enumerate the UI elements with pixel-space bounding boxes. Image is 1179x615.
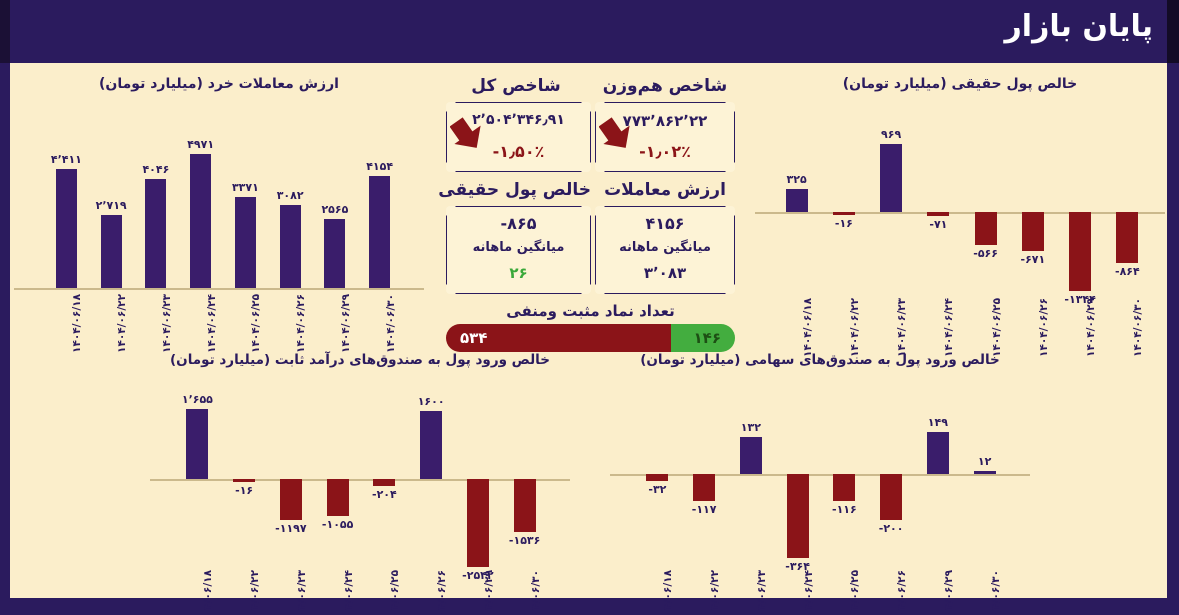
bar-value-label: ۴۹۷۱ — [187, 138, 214, 151]
chart-equity-funds-inflow: خالص ورود پول به صندوق‌های سهامی (میلیار… — [610, 352, 1030, 602]
bar — [186, 409, 208, 479]
bar-value-label: ۱۳۲ — [741, 421, 761, 434]
header-edge-right — [1167, 0, 1179, 63]
bar-column: ۱۴۹۱۴۰۴/۰۶/۲۹ — [915, 374, 962, 589]
bar-value-label: ۱۶۰۰ — [418, 395, 445, 408]
x-axis-date-label: ۱۴۰۴/۰۶/۲۴ — [343, 570, 355, 615]
bar-column: ۳۲۵۱۴۰۴/۰۶/۱۸ — [773, 100, 820, 330]
bar — [693, 474, 715, 501]
bar-column: ۴۰۴۶۱۴۰۴/۰۶/۲۳ — [134, 100, 179, 330]
bar — [324, 219, 345, 288]
bar-value-label: ۱۴۹ — [928, 416, 948, 429]
bar — [235, 197, 256, 288]
x-axis-date-label: ۱۴۰۴/۰۶/۲۵ — [849, 570, 861, 615]
bar — [646, 474, 668, 481]
real-money-avg-value: ۲۶ — [446, 264, 591, 282]
x-axis-date-label: ۱۴۰۴/۰۶/۱۸ — [202, 570, 214, 615]
bar-column: ۱۳۲۱۴۰۴/۰۶/۲۳ — [728, 374, 775, 589]
bar — [373, 479, 395, 486]
bar-value-label: -۵۶۶ — [973, 247, 998, 260]
bar-value-label: ۲۵۶۵ — [321, 203, 348, 216]
arrow-down-icon — [450, 110, 492, 152]
trade-value-box: ۴۱۵۶ میانگین ماهانه ۳٬۰۸۳ — [595, 206, 735, 294]
symbols-negative-count: ۵۳۴ — [446, 324, 671, 352]
bar-value-label: ۳۳۷۱ — [232, 181, 259, 194]
x-axis-date-label: ۱۴۰۴/۰۶/۲۳ — [756, 570, 768, 615]
chart-fixed-income-funds-inflow: خالص ورود پول به صندوق‌های درآمد ثابت (م… — [150, 352, 570, 602]
x-axis-date-label: ۱۴۰۴/۰۶/۲۲ — [849, 298, 861, 357]
bar-column: ۱۲۱۴۰۴/۰۶/۳۰ — [961, 374, 1008, 589]
bar-value-label: ۴۱۵۴ — [366, 160, 393, 173]
x-axis-date-label: ۱۴۰۴/۰۶/۲۳ — [896, 298, 908, 357]
bar — [927, 432, 949, 474]
bar-value-label: -۱۶ — [835, 217, 853, 230]
bar — [880, 144, 902, 212]
x-axis-date-label: ۱۴۰۴/۰۶/۳۰ — [990, 570, 1002, 615]
weighted-index-title: شاخص هم‌وزن — [595, 76, 735, 96]
chart-net-real-money: خالص پول حقیقی (میلیارد تومان) ۳۲۵۱۴۰۴/۰… — [755, 76, 1165, 346]
x-axis-date-label: ۱۴۰۴/۰۶/۲۶ — [896, 570, 908, 615]
bar-value-label: ۴٬۴۱۱ — [51, 153, 82, 166]
chart-title: ارزش معاملات خرد (میلیارد تومان) — [14, 76, 424, 92]
header-band: پایان بازار — [0, 0, 1179, 63]
x-axis-date-label: ۱۴۰۴/۰۶/۱۸ — [71, 294, 83, 353]
real-money-value: -۸۶۵ — [446, 214, 591, 233]
x-axis-date-label: ۱۴۰۴/۰۶/۳۰ — [385, 294, 397, 353]
bar — [145, 179, 166, 288]
bar — [233, 479, 255, 482]
bar-value-label: -۳۲ — [648, 483, 666, 496]
x-axis-date-label: ۱۴۰۴/۰۶/۲۶ — [1038, 298, 1050, 357]
trade-value-title: ارزش معاملات — [595, 180, 735, 200]
market-close-dashboard: پایان بازار ارزش معاملات خرد (میلیارد تو… — [0, 0, 1179, 615]
bar — [190, 154, 211, 288]
bar-value-label: -۸۶۴ — [1115, 265, 1140, 278]
bar — [467, 479, 489, 567]
bar — [56, 169, 77, 288]
x-axis-date-label: ۱۴۰۴/۰۶/۲۹ — [1085, 298, 1097, 357]
bar-column: ۲٬۷۱۹۱۴۰۴/۰۶/۲۲ — [89, 100, 134, 330]
bar-column: ۹۶۹۱۴۰۴/۰۶/۲۳ — [868, 100, 915, 330]
real-money-avg-label: میانگین ماهانه — [446, 240, 591, 255]
x-axis-date-label: ۱۴۰۴/۰۶/۲۵ — [389, 570, 401, 615]
bar — [1069, 212, 1091, 291]
symbols-title: تعداد نماد مثبت ومنفی — [438, 302, 743, 320]
bar-value-label: ۱۲ — [978, 455, 991, 468]
real-money-title: خالص پول حقیقی — [446, 180, 591, 200]
bar — [369, 176, 390, 288]
plot-area: -۳۲۱۴۰۴/۰۶/۱۸-۱۱۷۱۴۰۴/۰۶/۲۲۱۳۲۱۴۰۴/۰۶/۲۳… — [610, 374, 1030, 589]
x-axis-date-label: ۱۴۰۴/۰۶/۲۳ — [161, 294, 173, 353]
bar — [514, 479, 536, 532]
bar-column: -۱۱۷۱۴۰۴/۰۶/۲۲ — [681, 374, 728, 589]
bar-value-label: -۱۱۹۷ — [275, 522, 306, 535]
x-axis-date-label: ۱۴۰۴/۰۶/۳۰ — [530, 570, 542, 615]
bar-column: -۱۶۱۴۰۴/۰۶/۲۲ — [221, 374, 268, 589]
bar-value-label: -۶۷۱ — [1021, 253, 1046, 266]
bar-value-label: ۹۶۹ — [881, 128, 901, 141]
trade-value-avg-value: ۳٬۰۸۳ — [595, 264, 735, 282]
plot-area: ۴٬۴۱۱۱۴۰۴/۰۶/۱۸۲٬۷۱۹۱۴۰۴/۰۶/۲۲۴۰۴۶۱۴۰۴/۰… — [14, 100, 424, 330]
bar — [327, 479, 349, 516]
page-title: پایان بازار — [1005, 9, 1153, 44]
bar — [787, 474, 809, 558]
symbols-progress-bar: ۵۳۴ ۱۴۶ — [446, 324, 735, 352]
bar-column: ۳۳۷۱۱۴۰۴/۰۶/۲۵ — [223, 100, 268, 330]
bar-column: -۶۷۱۱۴۰۴/۰۶/۲۶ — [1009, 100, 1056, 330]
bar-column: -۱۱۹۷۱۴۰۴/۰۶/۲۳ — [268, 374, 315, 589]
bar-value-label: -۱۵۳۶ — [509, 534, 540, 547]
bar — [786, 189, 808, 212]
trade-value-value: ۴۱۵۶ — [595, 214, 735, 233]
bar-column: -۱۵۳۶۱۴۰۴/۰۶/۳۰ — [501, 374, 548, 589]
bar — [833, 212, 855, 215]
x-axis-date-label: ۱۴۰۴/۰۶/۲۴ — [206, 294, 218, 353]
x-axis-date-label: ۱۴۰۴/۰۶/۲۴ — [943, 298, 955, 357]
rail-right — [1167, 63, 1179, 615]
bar-column: -۲۰۰۱۴۰۴/۰۶/۲۶ — [868, 374, 915, 589]
bar-column: ۳۰۸۲۱۴۰۴/۰۶/۲۶ — [268, 100, 313, 330]
bar — [833, 474, 855, 501]
bar-value-label: ۲٬۷۱۹ — [96, 199, 127, 212]
bar-column: ۱٬۶۵۵۱۴۰۴/۰۶/۱۸ — [174, 374, 221, 589]
x-axis-date-label: ۱۴۰۴/۰۶/۲۲ — [709, 570, 721, 615]
x-axis-date-label: ۱۴۰۴/۰۶/۲۲ — [116, 294, 128, 353]
bar-column: -۲۰۴۱۴۰۴/۰۶/۲۵ — [361, 374, 408, 589]
bar-column: ۲۵۶۵۱۴۰۴/۰۶/۲۹ — [313, 100, 358, 330]
bar — [1116, 212, 1138, 263]
bar-column: ۴۱۵۴۱۴۰۴/۰۶/۳۰ — [357, 100, 402, 330]
bar-column: ۴٬۴۱۱۱۴۰۴/۰۶/۱۸ — [44, 100, 89, 330]
bar — [927, 212, 949, 216]
x-axis-date-label: ۱۴۰۴/۰۶/۲۳ — [296, 570, 308, 615]
bar-column: ۱۶۰۰۱۴۰۴/۰۶/۲۶ — [408, 374, 455, 589]
kpi-panel: شاخص هم‌وزن ۷۷۳٬۸۶۲٬۲۲ -۱٫۰۲٪ شاخص کل ۲٬… — [438, 76, 743, 351]
bar-column: -۵۶۶۱۴۰۴/۰۶/۲۵ — [962, 100, 1009, 330]
trade-value-avg-label: میانگین ماهانه — [595, 240, 735, 255]
bar-column: ۴۹۷۱۱۴۰۴/۰۶/۲۴ — [178, 100, 223, 330]
bar-value-label: -۱۶ — [235, 484, 253, 497]
bar-column: -۱۳۴۴۱۴۰۴/۰۶/۲۹ — [1057, 100, 1104, 330]
bar-column: -۱۰۵۵۱۴۰۴/۰۶/۲۴ — [314, 374, 361, 589]
chart-title: خالص ورود پول به صندوق‌های سهامی (میلیار… — [610, 352, 1030, 368]
bar-column: -۱۶۱۴۰۴/۰۶/۲۲ — [820, 100, 867, 330]
x-axis-date-label: ۱۴۰۴/۰۶/۲۹ — [340, 294, 352, 353]
bar-column: -۲۵۴۲۱۴۰۴/۰۶/۲۹ — [455, 374, 502, 589]
rail-left — [0, 63, 10, 615]
plot-area: ۳۲۵۱۴۰۴/۰۶/۱۸-۱۶۱۴۰۴/۰۶/۲۲۹۶۹۱۴۰۴/۰۶/۲۳-… — [755, 100, 1165, 330]
bar — [1022, 212, 1044, 251]
symbols-positive-count: ۱۴۶ — [671, 324, 735, 352]
bar-value-label: ۳۰۸۲ — [277, 189, 304, 202]
bar — [280, 479, 302, 520]
bar — [974, 471, 996, 474]
plot-area: ۱٬۶۵۵۱۴۰۴/۰۶/۱۸-۱۶۱۴۰۴/۰۶/۲۲-۱۱۹۷۱۴۰۴/۰۶… — [150, 374, 570, 589]
bar-column: -۱۱۶۱۴۰۴/۰۶/۲۵ — [821, 374, 868, 589]
bar-value-label: -۲۰۴ — [372, 488, 397, 501]
total-index-title: شاخص کل — [446, 76, 586, 96]
bar — [420, 411, 442, 479]
bar-column: -۳۶۴۱۴۰۴/۰۶/۲۴ — [774, 374, 821, 589]
bar-column: -۷۱۱۴۰۴/۰۶/۲۴ — [915, 100, 962, 330]
x-axis-date-label: ۱۴۰۴/۰۶/۲۲ — [249, 570, 261, 615]
chart-title: خالص ورود پول به صندوق‌های درآمد ثابت (م… — [150, 352, 570, 368]
x-axis-date-label: ۱۴۰۴/۰۶/۲۹ — [483, 570, 495, 615]
bar-column: -۳۲۱۴۰۴/۰۶/۱۸ — [634, 374, 681, 589]
bar-value-label: -۷۱ — [929, 218, 947, 231]
x-axis-date-label: ۱۴۰۴/۰۶/۲۶ — [295, 294, 307, 353]
weighted-index-box: ۷۷۳٬۸۶۲٬۲۲ -۱٫۰۲٪ — [595, 102, 735, 172]
bar-value-label: ۱٬۶۵۵ — [182, 393, 213, 406]
bar-value-label: -۱۱۶ — [832, 503, 857, 516]
bar — [880, 474, 902, 520]
x-axis-date-label: ۱۴۰۴/۰۶/۲۴ — [803, 570, 815, 615]
bar-value-label: -۱۱۷ — [692, 503, 717, 516]
bar — [101, 215, 122, 288]
bar-value-label: ۳۲۵ — [787, 173, 807, 186]
x-axis-date-label: ۱۴۰۴/۰۶/۲۵ — [991, 298, 1003, 357]
total-index-box: ۲٬۵۰۴٬۳۴۶٫۹۱ -۱٫۵۰٪ — [446, 102, 591, 172]
bar — [740, 437, 762, 474]
x-axis-date-label: ۱۴۰۴/۰۶/۱۸ — [662, 570, 674, 615]
x-axis-date-label: ۱۴۰۴/۰۶/۲۹ — [943, 570, 955, 615]
arrow-down-icon — [599, 110, 641, 152]
x-axis-date-label: ۱۴۰۴/۰۶/۲۵ — [250, 294, 262, 353]
real-money-box: -۸۶۵ میانگین ماهانه ۲۶ — [446, 206, 591, 294]
x-axis-date-label: ۱۴۰۴/۰۶/۳۰ — [1132, 298, 1144, 357]
bar — [975, 212, 997, 245]
bar-column: -۸۶۴۱۴۰۴/۰۶/۳۰ — [1104, 100, 1151, 330]
chart-retail-trade-value: ارزش معاملات خرد (میلیارد تومان) ۴٬۴۱۱۱۴… — [14, 76, 424, 346]
bar-value-label: ۴۰۴۶ — [142, 163, 169, 176]
bar-value-label: -۲۰۰ — [879, 522, 904, 535]
header-edge-left — [0, 0, 10, 63]
bar-value-label: -۱۰۵۵ — [322, 518, 353, 531]
x-axis-date-label: ۱۴۰۴/۰۶/۲۶ — [436, 570, 448, 615]
chart-title: خالص پول حقیقی (میلیارد تومان) — [755, 76, 1165, 92]
x-axis-date-label: ۱۴۰۴/۰۶/۱۸ — [802, 298, 814, 357]
bar — [280, 205, 301, 288]
